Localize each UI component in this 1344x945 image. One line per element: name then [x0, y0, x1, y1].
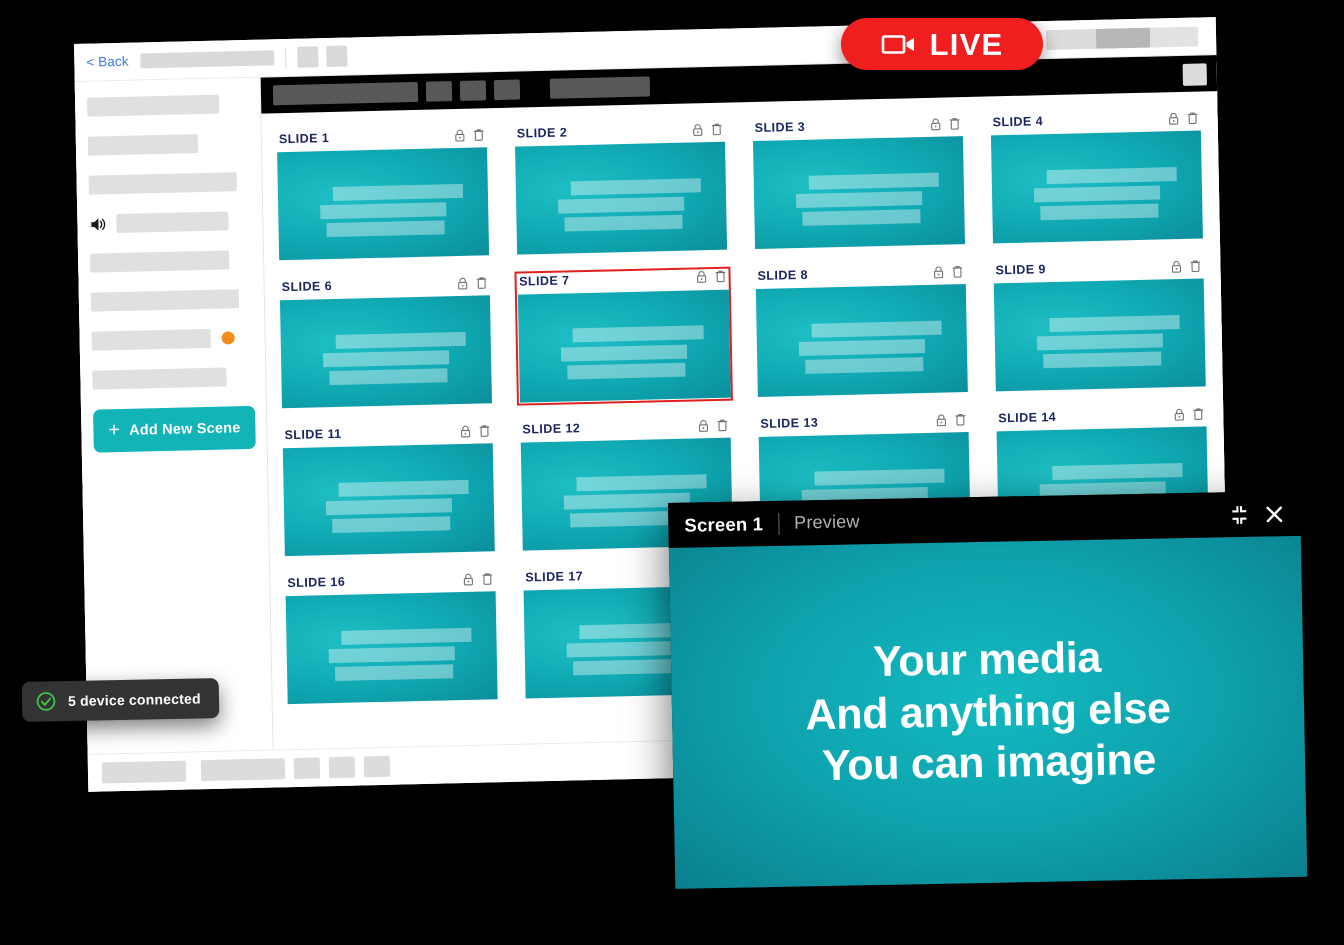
trash-icon[interactable]: [714, 270, 726, 283]
thumbnail-bar: [335, 331, 465, 348]
slide-label: SLIDE 17: [525, 569, 583, 584]
thumbnail-bar: [570, 178, 700, 195]
trash-icon[interactable]: [1186, 111, 1198, 124]
lock-icon[interactable]: [462, 572, 474, 585]
slide-card[interactable]: SLIDE 7: [514, 267, 733, 406]
slide-thumbnail: [515, 142, 727, 255]
bottombar-item-4[interactable]: [329, 757, 355, 779]
trash-icon[interactable]: [954, 413, 966, 426]
speaker-icon: [89, 216, 107, 232]
slide-header: SLIDE 11: [282, 423, 492, 442]
slide-label: SLIDE 14: [998, 410, 1056, 425]
close-icon[interactable]: [1264, 504, 1284, 524]
preview-text-line: Your media: [873, 633, 1102, 687]
segment-option-1[interactable]: [1046, 29, 1096, 50]
titlebar-placeholder-title: [140, 50, 274, 68]
segment-option-2-active[interactable]: [1096, 28, 1151, 49]
slide-card[interactable]: SLIDE 1: [274, 124, 493, 263]
trash-icon[interactable]: [1189, 259, 1201, 272]
bottombar-item-5[interactable]: [364, 756, 390, 778]
thumbnail-bar: [811, 320, 941, 337]
toast-message: 5 device connected: [68, 690, 201, 709]
slide-label: SLIDE 7: [519, 273, 570, 288]
slide-label: SLIDE 11: [284, 427, 341, 442]
thumbnail-bar: [1046, 167, 1176, 184]
lock-icon[interactable]: [454, 128, 466, 141]
toolbar-control-2[interactable]: [426, 81, 452, 102]
lock-icon[interactable]: [457, 276, 469, 289]
slide-actions: [692, 122, 723, 136]
sidebar-placeholder-1: [87, 95, 219, 117]
thumbnail-bar: [1049, 315, 1179, 332]
bottombar-item-2[interactable]: [201, 758, 285, 781]
slide-actions: [1170, 259, 1201, 273]
trash-icon[interactable]: [711, 122, 723, 135]
lock-icon[interactable]: [692, 123, 704, 136]
check-circle-icon: [36, 691, 56, 711]
titlebar-segmented-control[interactable]: [1046, 27, 1198, 51]
slide-label: SLIDE 2: [517, 125, 568, 140]
thumbnail-bar: [808, 172, 938, 189]
slide-card[interactable]: SLIDE 2: [512, 119, 731, 258]
lock-icon[interactable]: [695, 270, 707, 283]
preview-panel: Screen 1 Preview Your mediaAnd anything …: [668, 491, 1307, 889]
trash-icon[interactable]: [1192, 407, 1204, 420]
sidebar-placeholder-6: [91, 289, 239, 311]
slide-thumbnail: [283, 443, 495, 556]
sidebar-placeholder-3: [89, 172, 237, 194]
slide-label: SLIDE 3: [755, 120, 806, 135]
thumbnail-bar: [1043, 352, 1161, 369]
plus-icon: +: [108, 420, 120, 440]
toolbar-control-4[interactable]: [494, 80, 520, 101]
sidebar-status-row: [92, 328, 251, 351]
thumbnail-bar: [567, 363, 685, 380]
thumbnail-bar: [332, 184, 462, 201]
bottombar-item-1[interactable]: [102, 761, 186, 784]
video-camera-icon: [881, 32, 917, 57]
titlebar-button-2[interactable]: [326, 46, 347, 67]
slide-card[interactable]: SLIDE 16: [282, 568, 501, 707]
sidebar-volume-row[interactable]: [89, 211, 248, 234]
slide-header: SLIDE 13: [758, 412, 968, 431]
thumbnail-bar: [561, 344, 688, 361]
sidebar: + Add New Scene: [75, 78, 274, 754]
live-label: LIVE: [930, 29, 1004, 60]
thumbnail-bar: [565, 215, 683, 232]
lock-icon[interactable]: [1167, 111, 1179, 124]
slide-label: SLIDE 4: [993, 114, 1044, 129]
trash-icon[interactable]: [473, 128, 485, 141]
collapse-icon[interactable]: [1229, 504, 1249, 524]
slide-header: SLIDE 6: [280, 275, 490, 294]
slide-actions: [930, 117, 961, 131]
thumbnail-bar: [327, 221, 445, 238]
thumbnail-bar: [805, 357, 923, 374]
slide-actions: [935, 413, 966, 427]
slide-header: SLIDE 8: [755, 264, 965, 283]
thumbnail-bar: [323, 350, 449, 367]
slide-actions: [695, 270, 726, 284]
trash-icon[interactable]: [481, 572, 493, 585]
slide-thumbnail: [994, 278, 1206, 391]
lock-icon[interactable]: [1173, 407, 1185, 420]
slide-header: SLIDE 4: [991, 110, 1201, 129]
thumbnail-bar: [573, 325, 704, 342]
slide-thumbnail: [753, 136, 965, 249]
thumbnail-bar: [320, 202, 446, 219]
slide-actions: [1173, 407, 1204, 421]
slide-header: SLIDE 3: [753, 116, 963, 135]
lock-icon[interactable]: [697, 419, 709, 432]
slide-label: SLIDE 6: [282, 279, 333, 294]
status-dot-icon: [222, 331, 235, 344]
slide-actions: [454, 128, 485, 142]
lock-icon[interactable]: [930, 117, 942, 130]
slide-actions: [1167, 111, 1198, 125]
slide-label: SLIDE 16: [287, 575, 345, 590]
slide-card[interactable]: SLIDE 11: [279, 420, 498, 559]
slide-actions: [697, 418, 728, 432]
back-link[interactable]: < Back: [86, 54, 129, 70]
slide-actions: [457, 276, 488, 290]
thumbnail-bar: [326, 498, 452, 515]
thumbnail-bar: [1037, 333, 1163, 350]
preview-text-line: You can imagine: [822, 736, 1157, 792]
preview-text-line: And anything else: [805, 684, 1171, 741]
trash-icon[interactable]: [478, 424, 490, 437]
preview-stage: Your mediaAnd anything elseYou can imagi…: [669, 536, 1307, 889]
sidebar-placeholder-8: [92, 368, 226, 390]
sidebar-volume-placeholder: [116, 211, 228, 233]
thumbnail-bar: [1034, 185, 1160, 202]
titlebar-button-1[interactable]: [297, 46, 318, 67]
lock-icon[interactable]: [459, 424, 471, 437]
trash-icon[interactable]: [951, 265, 963, 278]
slide-header: SLIDE 2: [515, 122, 725, 141]
slide-header: SLIDE 1: [277, 127, 487, 146]
live-badge: LIVE: [841, 18, 1043, 70]
slide-actions: [932, 265, 963, 279]
trash-icon[interactable]: [949, 117, 961, 130]
lock-icon[interactable]: [1170, 259, 1182, 272]
screenshot-root: < Back: [0, 0, 1344, 945]
thumbnail-bar: [332, 517, 450, 534]
slide-header: SLIDE 14: [996, 406, 1206, 425]
slide-thumbnail: [517, 289, 730, 402]
slide-card[interactable]: SLIDE 8: [752, 261, 971, 400]
slide-card[interactable]: SLIDE 4: [987, 107, 1206, 246]
thumbnail-bar: [576, 474, 706, 491]
thumbnail-bar: [1052, 463, 1182, 480]
bottombar-item-3[interactable]: [294, 757, 320, 779]
thumbnail-bar: [799, 339, 925, 356]
slide-label: SLIDE 1: [279, 131, 330, 146]
slide-actions: [459, 424, 490, 438]
preview-header-divider: [778, 512, 779, 534]
thumbnail-bar: [814, 468, 944, 485]
trash-icon[interactable]: [476, 276, 488, 289]
slide-header: SLIDE 7: [517, 269, 728, 288]
thumbnail-bar: [329, 646, 455, 663]
slide-header: SLIDE 9: [993, 258, 1203, 277]
segment-option-3[interactable]: [1150, 27, 1198, 48]
sidebar-placeholder-7: [92, 329, 211, 351]
slide-thumbnail: [991, 130, 1203, 243]
slide-label: SLIDE 12: [522, 421, 580, 436]
titlebar-divider: [285, 47, 286, 67]
slide-thumbnail: [756, 284, 968, 397]
slide-card[interactable]: SLIDE 3: [750, 113, 969, 252]
thumbnail-bar: [338, 479, 468, 496]
slide-card[interactable]: SLIDE 9: [990, 255, 1209, 394]
slide-actions: [462, 572, 493, 586]
slide-label: SLIDE 8: [757, 268, 808, 283]
slide-thumbnail: [277, 147, 489, 260]
preview-header-actions: [1229, 504, 1284, 525]
thumbnail-bar: [558, 197, 684, 214]
add-new-scene-label: Add New Scene: [129, 420, 241, 439]
toolbar-right-button[interactable]: [1183, 63, 1207, 86]
sidebar-placeholder-5: [90, 250, 229, 272]
slide-header: SLIDE 16: [285, 571, 495, 590]
thumbnail-bar: [803, 209, 921, 226]
thumbnail-bar: [1041, 204, 1159, 221]
lock-icon[interactable]: [935, 413, 947, 426]
trash-icon[interactable]: [716, 418, 728, 431]
slide-thumbnail: [286, 591, 498, 704]
thumbnail-bar: [341, 627, 471, 644]
sidebar-placeholder-2: [88, 134, 198, 156]
slide-card[interactable]: SLIDE 6: [277, 272, 496, 411]
thumbnail-bar: [330, 369, 448, 386]
slide-label: SLIDE 13: [760, 416, 818, 431]
toast-notification: 5 device connected: [22, 678, 219, 722]
thumbnail-bar: [796, 191, 922, 208]
preview-mode-label: Preview: [794, 511, 860, 533]
slide-header: SLIDE 12: [520, 418, 730, 437]
slide-thumbnail: [280, 295, 492, 408]
lock-icon[interactable]: [932, 265, 944, 278]
toolbar-control-1[interactable]: [273, 82, 418, 105]
toolbar-control-5[interactable]: [550, 76, 650, 98]
thumbnail-bar: [335, 665, 453, 682]
toolbar-control-3[interactable]: [460, 80, 486, 101]
add-new-scene-button[interactable]: + Add New Scene: [93, 406, 256, 453]
slide-label: SLIDE 9: [995, 262, 1046, 277]
preview-screen-label: Screen 1: [684, 513, 763, 537]
